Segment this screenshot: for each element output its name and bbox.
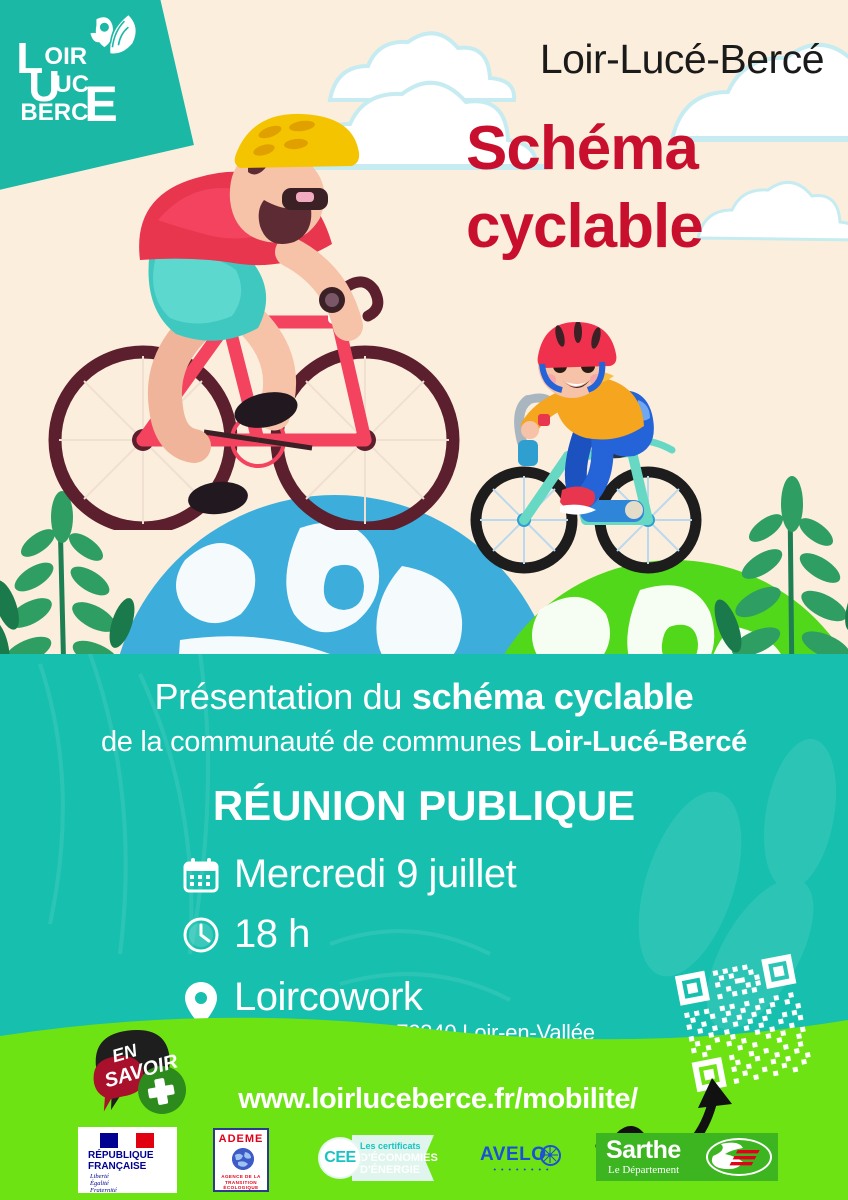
page-title: Schéma cyclable [466, 110, 826, 266]
detail-time-label: 18 h [234, 912, 310, 957]
rf-title-line1: RÉPUBLIQUE [88, 1150, 168, 1161]
leaf-pin-icon [84, 13, 140, 66]
panel-line-1-normal: Présentation du [154, 676, 411, 717]
logo-ademe: ADEME AGENCE DE LA TRANSITION ÉCOLOGIQUE [213, 1128, 269, 1192]
bike-wheel-icon [540, 1145, 561, 1166]
detail-row-date: Mercredi 9 juillet [180, 852, 516, 897]
clock-icon [180, 916, 222, 954]
page-title-line2: cyclable [466, 188, 826, 266]
sarthe-emblem-icon [706, 1138, 772, 1176]
rf-motto-line2: Égalité [90, 1180, 117, 1187]
cee-acronym: CEE [324, 1149, 355, 1167]
logo-letters-berc: BERC [20, 101, 88, 125]
logo-avelo: AVELO [480, 1142, 562, 1174]
rf-motto-line3: Fraternité [90, 1187, 117, 1194]
page-subtitle-commune: Loir-Lucé-Bercé [540, 36, 824, 83]
logo-republique-francaise: RÉPUBLIQUE FRANÇAISE Liberté Égalité Fra… [78, 1127, 177, 1193]
page-title-line1: Schéma [466, 110, 826, 188]
panel-line-1-bold: schéma cyclable [412, 676, 694, 717]
cee-acronym-badge: CEE [318, 1137, 362, 1179]
ademe-subtitle: AGENCE DE LA TRANSITION ÉCOLOGIQUE [217, 1174, 265, 1191]
poster-root: Présentation du schéma cyclable de la co… [0, 0, 848, 1200]
plant-illustration-right [700, 448, 848, 660]
avelo-dots [482, 1168, 560, 1171]
panel-line-2-normal: de la communauté de communes [101, 726, 529, 758]
ademe-title: ADEME [215, 1133, 267, 1145]
ademe-globe-icon [232, 1148, 254, 1170]
french-flag-icon [100, 1133, 154, 1148]
cee-line2: D'ÉCONOMIES [360, 1152, 438, 1164]
cee-text: Les certificats D'ÉCONOMIES D'ÉNERGIE [360, 1140, 438, 1176]
panel-line-1: Présentation du schéma cyclable [0, 676, 848, 718]
calendar-icon [180, 856, 222, 894]
panel-line-2-bold: Loir-Lucé-Bercé [529, 726, 747, 758]
logo-sarthe: Sarthe Le Département [596, 1133, 778, 1181]
cee-line1: Les certificats [360, 1140, 438, 1152]
panel-line-2: de la communauté de communes Loir-Lucé-B… [0, 726, 848, 759]
panel-heading: RÉUNION PUBLIQUE [0, 782, 848, 830]
sarthe-subtitle: Le Département [608, 1164, 679, 1176]
child-cyclist-illustration [462, 322, 702, 582]
sarthe-title: Sarthe [606, 1136, 681, 1165]
rf-motto-line1: Liberté [90, 1173, 117, 1180]
rf-motto: Liberté Égalité Fraternité [90, 1173, 117, 1194]
logo-letter-e: E [84, 81, 117, 127]
cee-line3: D'ÉNERGIE [360, 1164, 438, 1176]
logo-lettering: L OIR U UC BERC E [12, 19, 162, 139]
ademe-sub-line3: ÉCOLOGIQUE [217, 1185, 265, 1191]
logo-cee: Les certificats D'ÉCONOMIES D'ÉNERGIE CE… [318, 1135, 434, 1181]
detail-date-label: Mercredi 9 juillet [234, 852, 516, 897]
detail-row-time: 18 h [180, 912, 310, 957]
rf-title: RÉPUBLIQUE FRANÇAISE [88, 1150, 168, 1172]
rf-title-line2: FRANÇAISE [88, 1161, 168, 1172]
avelo-title: AVELO [480, 1144, 547, 1166]
ademe-sub-line1: AGENCE DE LA [217, 1174, 265, 1180]
website-url[interactable]: www.loirluceberce.fr/mobilite/ [0, 1083, 848, 1116]
